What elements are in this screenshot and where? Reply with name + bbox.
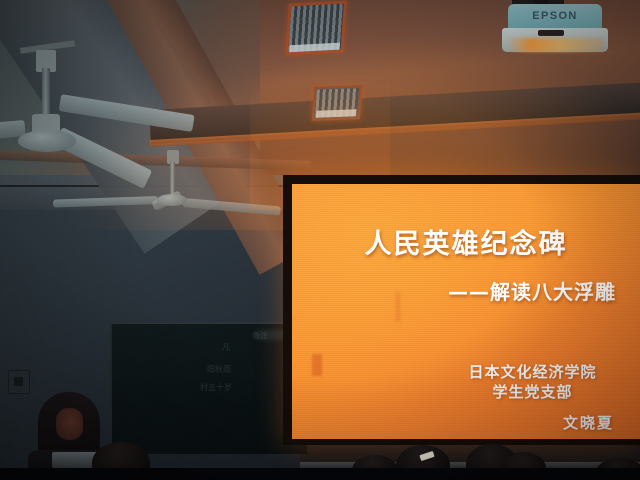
ceiling-fan (105, 140, 290, 220)
chalk-mark: 村五十岁 (200, 382, 232, 393)
slide-organization-line-1: 日本文化经济学院 (435, 362, 630, 382)
slide-subtitle: ——解读八大浮雕 (448, 276, 616, 305)
slide-title: 人民英雄纪念碑 (292, 222, 640, 261)
foreground-shadow (0, 468, 640, 480)
wall-outlet (8, 370, 30, 394)
projector-brand-label: EPSON (508, 6, 602, 26)
ceiling-light-fixture (312, 85, 363, 121)
projector-lens (538, 30, 564, 36)
projector: EPSON (500, 2, 610, 54)
screen-blemish (396, 292, 400, 322)
slide-organization-line-2: 学生党支部 (435, 382, 630, 402)
screen-blemish (312, 354, 322, 376)
chalk-mark: 凡 (222, 342, 230, 353)
presenter-face (56, 408, 83, 440)
ceiling-fan (0, 18, 210, 148)
chalk-mark: 阳秋雨 (207, 364, 231, 375)
ceiling-light-fixture (285, 1, 347, 56)
chalk-mark: 备注 (252, 330, 268, 341)
projection-screen: 人民英雄纪念碑 ——解读八大浮雕 日本文化经济学院 学生党支部 文晓夏 (292, 184, 640, 439)
projector-light-beam (506, 38, 604, 52)
slide-organization: 日本文化经济学院 学生党支部 (435, 362, 630, 402)
classroom-photo: EPSON 备注 凡 阳秋雨 村五十岁 人民英雄纪念碑 ——解读八大浮雕 日本文… (0, 0, 640, 480)
slide-author: 文晓夏 (563, 412, 614, 433)
